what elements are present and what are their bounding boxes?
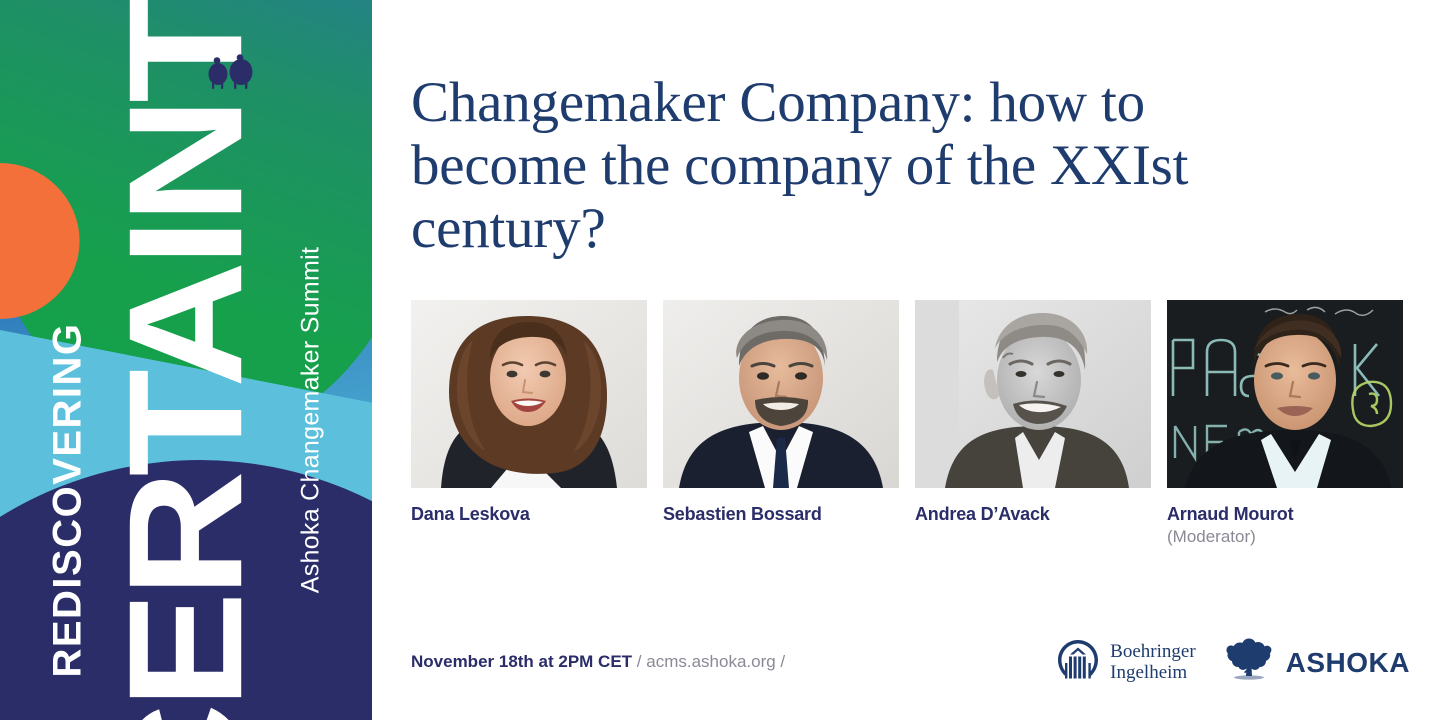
speaker-photo [915, 300, 1151, 488]
certainty-wordmark: CERTAINTY [93, 0, 279, 720]
speaker-card: Arnaud Mourot (Moderator) [1167, 300, 1403, 547]
bi-line-2: Ingelheim [1110, 662, 1187, 683]
bi-line-1: Boehringer [1110, 641, 1195, 662]
boehringer-ingelheim-mark-icon [1055, 637, 1101, 688]
speaker-card: Andrea D’Avack [915, 300, 1151, 547]
speaker-name: Arnaud Mourot [1167, 504, 1403, 525]
speaker-card: Sebastien Bossard [663, 300, 899, 547]
two-people-sitting-icon [203, 54, 259, 94]
ashoka-wordmark: ASHOKA [1286, 647, 1410, 679]
speaker-role: (Moderator) [1167, 527, 1403, 547]
event-date: November 18th at 2PM CET [411, 652, 632, 671]
boehringer-ingelheim-name: Boehringer Ingelheim [1110, 642, 1195, 683]
summit-label: Ashoka Changemaker Summit [297, 247, 326, 594]
ashoka-tree-icon [1222, 637, 1276, 688]
speaker-card: Dana Leskova [411, 300, 647, 547]
page-title: Changemaker Company: how to become the c… [411, 72, 1311, 260]
speaker-photo [411, 300, 647, 488]
boehringer-ingelheim-logo: Boehringer Ingelheim [1055, 637, 1195, 688]
brand-panel: CERTAINTY REDISCOVERING Ashoka Changemak… [0, 0, 372, 720]
speaker-photo [1167, 300, 1403, 488]
ashoka-logo: ASHOKA [1222, 637, 1410, 688]
event-url[interactable]: / acms.ashoka.org / [637, 652, 785, 671]
rediscovering-kicker: REDISCOVERING [46, 322, 91, 677]
speaker-name: Dana Leskova [411, 504, 647, 525]
footer-info: November 18th at 2PM CET / acms.ashoka.o… [411, 652, 785, 672]
content-area: Changemaker Company: how to become the c… [372, 0, 1440, 720]
event-poster: CERTAINTY REDISCOVERING Ashoka Changemak… [0, 0, 1440, 720]
speaker-name: Andrea D’Avack [915, 504, 1151, 525]
logo-row: Boehringer Ingelheim [1055, 637, 1410, 688]
speaker-grid: Dana Leskova [411, 300, 1411, 547]
speaker-name: Sebastien Bossard [663, 504, 899, 525]
speaker-photo [663, 300, 899, 488]
